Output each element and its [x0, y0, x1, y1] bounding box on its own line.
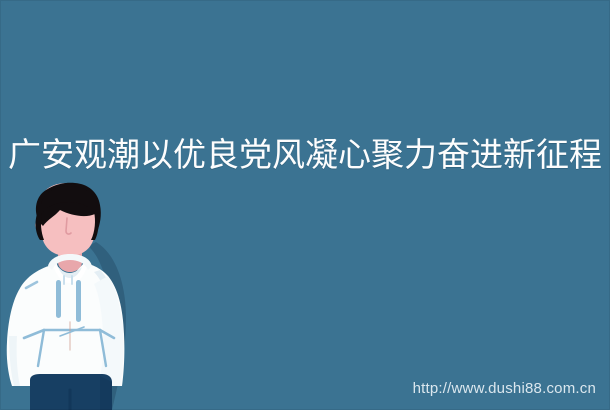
page-title: 广安观潮以优良党风凝心聚力奋进新征程 — [0, 136, 610, 174]
watermark-url: http://www.dushi88.com.cn — [413, 380, 596, 398]
article-cover-image: 广安观潮以优良党风凝心聚力奋进新征程 http://www.dushi88.co… — [0, 0, 610, 410]
trousers-group — [30, 374, 112, 410]
person-illustration — [0, 180, 150, 410]
